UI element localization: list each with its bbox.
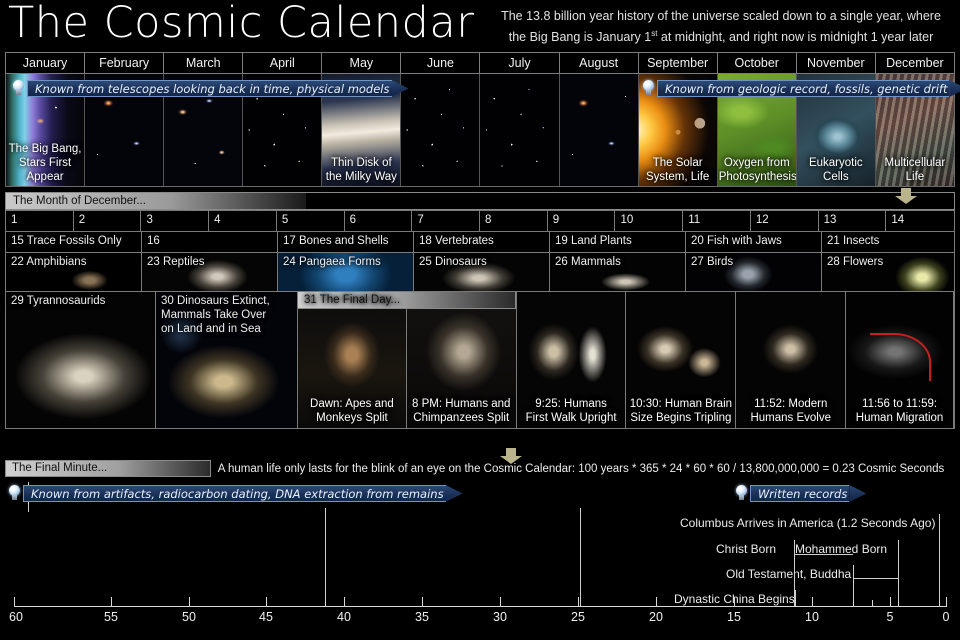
space-image-june [401, 74, 479, 186]
december-day-28[interactable]: 28 Flowers [822, 253, 955, 291]
lightbulb-icon [12, 80, 25, 97]
december-day-6[interactable]: 6 [345, 211, 413, 231]
december-day-21[interactable]: 21 Insects [822, 232, 955, 252]
axis-tick-60 [14, 597, 15, 607]
axis-tick-dynastic-china [795, 600, 796, 607]
axis-label-5: 5 [887, 610, 894, 624]
axis-tick-ice-age [325, 600, 326, 607]
final-day-caption-modern-humans: 11:52: Modern Humans Evolve [736, 397, 845, 425]
axis-label-55: 55 [104, 610, 118, 624]
december-title-bar: The Month of December... [5, 192, 955, 210]
axis-tick-mohammed [898, 600, 899, 607]
final-minute-formula: A human life only lasts for the blink of… [216, 461, 946, 477]
leader-line-mohammed [898, 540, 899, 606]
event-label-christ-born: Christ Born [716, 542, 776, 556]
axis-tick-50 [189, 597, 190, 607]
page-header: The Cosmic Calendar The 13.8 billion yea… [0, 0, 960, 50]
callout-written-records-label: Written records [758, 487, 847, 501]
year-cell-june[interactable] [401, 74, 480, 186]
axis-label-45: 45 [259, 610, 273, 624]
december-days-15-21-row: 15 Trace Fossils Only 16 17 Bones and Sh… [5, 232, 955, 253]
axis-tick-15 [734, 597, 735, 607]
callout-geologic-body: Known from geologic record, fossils, gen… [657, 80, 949, 97]
axis-tick-10 [812, 597, 813, 607]
callout-arrow-tip [849, 485, 866, 502]
december-day-27[interactable]: 27 Birds [686, 253, 822, 291]
december-day-12[interactable]: 12 [751, 211, 819, 231]
final-day-caption-chimpanzee-split: 8 PM: Humans and Chimpanzees Split [407, 397, 516, 425]
final-day-event-walk-upright[interactable]: 9:25: Humans First Walk Upright [517, 292, 627, 428]
month-header-january[interactable]: January [6, 53, 85, 73]
final-day-caption-human-migration: 11:56 to 11:59: Human Migration [846, 397, 953, 425]
month-header-may[interactable]: May [322, 53, 401, 73]
december-day-19[interactable]: 19 Land Plants [550, 232, 686, 252]
year-cell-july[interactable] [480, 74, 559, 186]
final-day-event-modern-humans[interactable]: 11:52: Modern Humans Evolve [736, 292, 846, 428]
callout-written-records-body: Written records [750, 485, 849, 502]
final-day-event-human-migration[interactable]: 11:56 to 11:59: Human Migration [846, 292, 954, 428]
leader-line-agriculture [580, 508, 581, 606]
december-day-5[interactable]: 5 [277, 211, 345, 231]
december-day-11[interactable]: 11 [683, 211, 751, 231]
final-day-caption-walk-upright: 9:25: Humans First Walk Upright [517, 397, 626, 425]
axis-tick-old-testament [853, 600, 854, 607]
axis-label-20: 20 [649, 610, 663, 624]
space-image-july [480, 74, 558, 186]
axis-tick-55 [111, 597, 112, 607]
axis-label-15: 15 [727, 610, 741, 624]
cosmic-seconds-axis: 60 55 50 45 40 35 30 25 20 15 10 5 0 [0, 606, 960, 640]
december-day-14[interactable]: 14 [886, 211, 955, 231]
december-calendar-grid: 1 2 3 4 5 6 7 8 9 10 11 12 13 14 15 Trac… [5, 210, 955, 429]
december-day-24[interactable]: 24 Pangaea Forms [278, 253, 414, 291]
final-minute-title-bar: The Final Minute... [5, 460, 211, 477]
event-label-columbus: Columbus Arrives in America (1.2 Seconds… [680, 516, 935, 530]
december-day-8[interactable]: 8 [480, 211, 548, 231]
lightbulb-icon [642, 80, 655, 97]
december-day-13[interactable]: 13 [819, 211, 887, 231]
space-image-august [560, 74, 638, 186]
cosmic-calendar-page: The Cosmic Calendar The 13.8 billion yea… [0, 0, 960, 640]
callout-arrow-tip [392, 80, 409, 97]
december-days-29-31-row: 29 Tyrannosaurids 30 Dinosaurs Extinct, … [5, 292, 955, 429]
axis-tick-30 [500, 597, 501, 607]
month-header-october[interactable]: October [718, 53, 797, 73]
axis-tick-0 [946, 597, 947, 607]
december-day-29[interactable]: 29 Tyrannosaurids [6, 292, 156, 428]
axis-tick-25 [578, 597, 579, 607]
december-day-2[interactable]: 2 [74, 211, 142, 231]
lightbulb-icon [8, 485, 21, 502]
year-caption-september: The Solar System, Life [639, 156, 717, 184]
axis-tick-5 [890, 597, 891, 607]
year-caption-november: Eukaryotic Cells [797, 156, 875, 184]
callout-arrow-tip [949, 80, 960, 97]
year-caption-december: Multicellular Life [876, 156, 954, 184]
axis-label-30: 30 [493, 610, 507, 624]
lightbulb-icon [735, 485, 748, 502]
callout-geologic-banner: Known from geologic record, fossils, gen… [642, 80, 960, 97]
final-day-caption-brain-tripling: 10:30: Human Brain Size Begins Tripling [626, 397, 735, 425]
axis-tick-45 [266, 597, 267, 607]
month-header-november[interactable]: November [797, 53, 876, 73]
callout-geologic-label: Known from geologic record, fossils, gen… [665, 82, 947, 96]
axis-label-35: 35 [415, 610, 429, 624]
december-day-7[interactable]: 7 [412, 211, 480, 231]
year-caption-may: Thin Disk of the Milky Way [322, 156, 400, 184]
final-day-event-brain-tripling[interactable]: 10:30: Human Brain Size Begins Tripling [626, 292, 736, 428]
december-day-3[interactable]: 3 [141, 211, 209, 231]
december-day-4[interactable]: 4 [209, 211, 277, 231]
december-day-17[interactable]: 17 Bones and Shells [278, 232, 414, 252]
axis-tick-agriculture [580, 600, 581, 607]
callout-telescope-label: Known from telescopes looking back in ti… [35, 82, 390, 96]
month-header-march[interactable]: March [164, 53, 243, 73]
final-minute-title-label: The Final Minute... [12, 461, 107, 476]
year-caption-january: The Big Bang, Stars First Appear [6, 142, 84, 184]
month-header-december[interactable]: December [876, 53, 954, 73]
axis-tick-35 [422, 597, 423, 607]
month-header-july[interactable]: July [480, 53, 559, 73]
event-label-old-testament-buddha: Old Testament, Buddha [726, 567, 851, 581]
axis-tick-columbus [939, 600, 940, 607]
axis-tick-40 [344, 597, 345, 607]
callout-telescope-banner: Known from telescopes looking back in ti… [12, 80, 409, 97]
december-days-1-14-row: 1 2 3 4 5 6 7 8 9 10 11 12 13 14 [5, 210, 955, 232]
december-day-10[interactable]: 10 [615, 211, 683, 231]
final-day-event-chimpanzee-split[interactable]: 8 PM: Humans and Chimpanzees Split [407, 292, 517, 428]
callout-written-records-banner: Written records [735, 485, 866, 502]
december-day-31[interactable]: 31 The Final Day... Dawn: Apes and Monke… [298, 292, 955, 428]
subtitle-line-2b: at midnight, and right now is midnight 1… [657, 30, 933, 44]
december-title-label: The Month of December... [13, 193, 146, 209]
month-header-september[interactable]: September [639, 53, 718, 73]
page-title: The Cosmic Calendar [8, 0, 474, 48]
leader-line-ice-age [325, 508, 326, 606]
month-header-august[interactable]: August [560, 53, 639, 73]
callout-arrow-tip [446, 485, 463, 502]
axis-tick-20 [656, 597, 657, 607]
december-day-20[interactable]: 20 Fish with Jaws [686, 232, 822, 252]
leader-connector-mohammed [853, 578, 899, 579]
month-header-june[interactable]: June [401, 53, 480, 73]
december-day-18[interactable]: 18 Vertebrates [414, 232, 550, 252]
subtitle-line-1: The 13.8 billion year history of the uni… [488, 8, 954, 25]
arrow-down-to-final-minute-icon [500, 448, 522, 464]
subtitle-line-2: the Big Bang is January 1st at midnight,… [488, 25, 954, 46]
axis-label-40: 40 [337, 610, 351, 624]
axis-tick-christ [872, 600, 873, 607]
december-day-22[interactable]: 22 Amphibians [6, 253, 142, 291]
callout-artifacts-label: Known from artifacts, radiocarbon dating… [31, 487, 444, 501]
month-header-april[interactable]: April [243, 53, 322, 73]
axis-label-10: 10 [805, 610, 819, 624]
year-cell-august[interactable] [560, 74, 639, 186]
month-header-february[interactable]: February [85, 53, 164, 73]
december-days-22-28-row: 22 Amphibians 23 Reptiles 24 Pangaea For… [5, 253, 955, 292]
callout-artifacts-body: Known from artifacts, radiocarbon dating… [23, 485, 446, 502]
axis-label-0: 0 [943, 610, 950, 624]
callout-artifacts-banner: Known from artifacts, radiocarbon dating… [8, 485, 463, 502]
callout-telescope-body: Known from telescopes looking back in ti… [27, 80, 392, 97]
final-day-title-bar: 31 The Final Day... [298, 292, 516, 309]
december-day-26[interactable]: 26 Mammals [550, 253, 686, 291]
december-day-16[interactable]: 16 [142, 232, 278, 252]
december-day-23[interactable]: 23 Reptiles [142, 253, 278, 291]
final-day-caption-dawn: Dawn: Apes and Monkeys Split [298, 397, 406, 425]
december-day-1[interactable]: 1 [6, 211, 74, 231]
arrow-down-to-december-icon [895, 188, 917, 204]
december-day-30[interactable]: 30 Dinosaurs Extinct, Mammals Take Over … [156, 292, 298, 428]
page-subtitle: The 13.8 billion year history of the uni… [488, 8, 954, 46]
december-day-15[interactable]: 15 Trace Fossils Only [6, 232, 142, 252]
axis-label-25: 25 [571, 610, 585, 624]
axis-label-60: 60 [9, 610, 23, 624]
leader-line-columbus [939, 514, 940, 606]
axis-label-50: 50 [182, 610, 196, 624]
december-day-9[interactable]: 9 [548, 211, 616, 231]
december-day-25[interactable]: 25 Dinosaurs [414, 253, 550, 291]
month-header-row: January February March April May June Ju… [5, 52, 955, 74]
final-day-title-label: 31 The Final Day... [304, 292, 400, 308]
year-caption-october: Oxygen from Photosynthesis [718, 156, 796, 184]
leader-connector-christ [795, 554, 853, 555]
axis-baseline [14, 606, 946, 607]
final-day-event-dawn[interactable]: Dawn: Apes and Monkeys Split [298, 292, 407, 428]
subtitle-line-2a: the Big Bang is January 1 [509, 30, 651, 44]
